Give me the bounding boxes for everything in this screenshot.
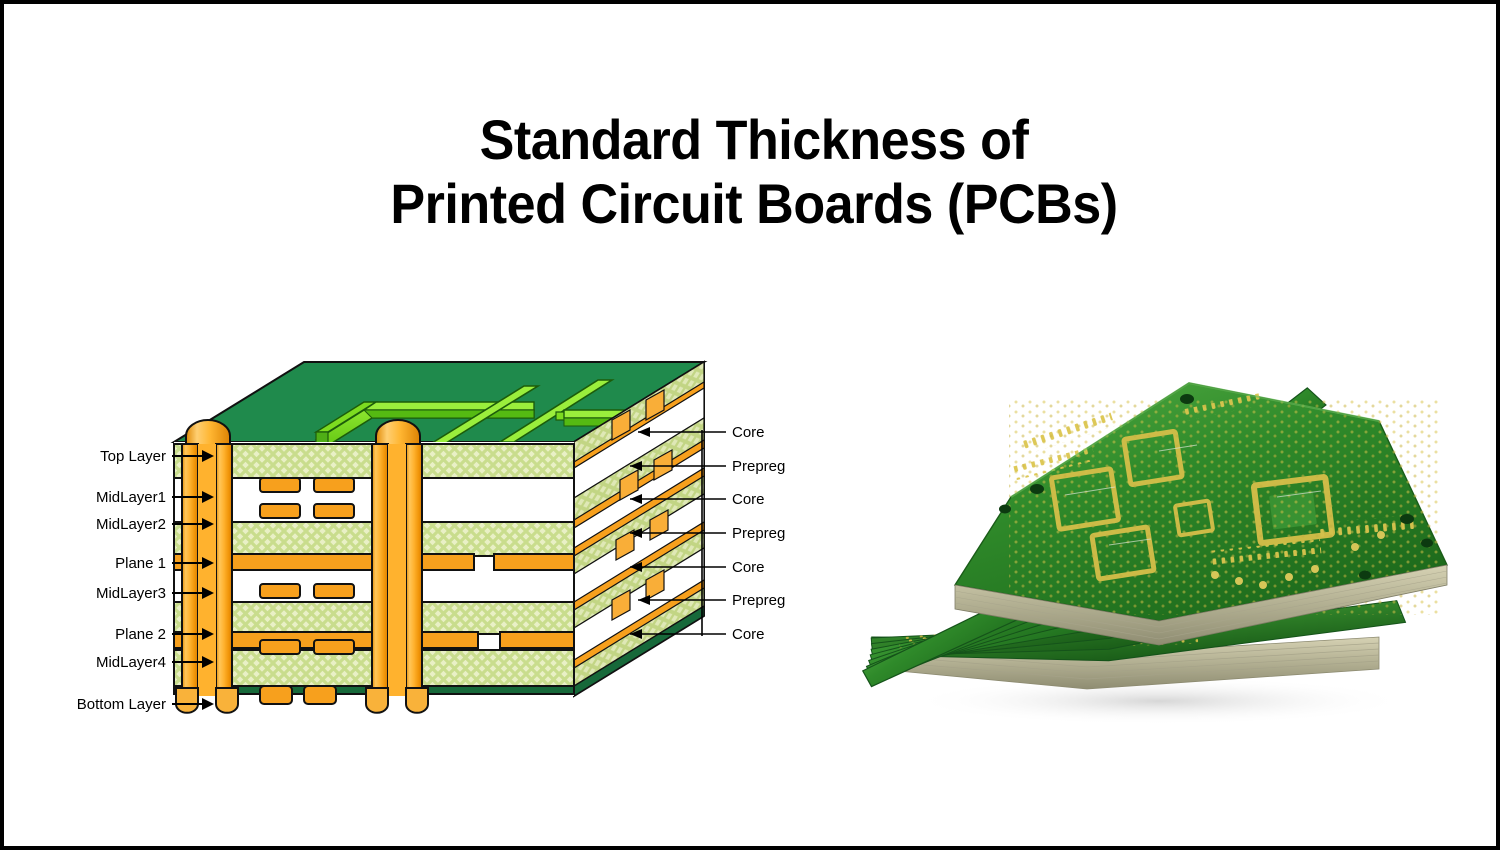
left-label-text: Bottom Layer: [77, 696, 166, 713]
left-label-text: Plane 1: [115, 555, 166, 572]
page-title-line-1: Standard Thickness of: [57, 108, 1452, 172]
page-title: Standard Thickness of Printed Circuit Bo…: [4, 108, 1500, 236]
left-label-text: Plane 2: [115, 626, 166, 643]
copper-plane-1b: [494, 554, 574, 570]
copper-plane-2c: [500, 632, 574, 648]
right-label-text: Prepreg: [732, 592, 785, 609]
pcb-stackup-diagram: Top Layer MidLayer1 MidLayer2 Plane 1: [64, 344, 804, 744]
right-label-text: Core: [732, 424, 765, 441]
left-label-text: MidLayer1: [96, 489, 166, 506]
via-group-right: [366, 420, 428, 713]
right-label-text: Core: [732, 626, 765, 643]
left-label-text: MidLayer3: [96, 585, 166, 602]
left-label-text: MidLayer4: [96, 654, 166, 671]
pcb-stack-group: [859, 383, 1447, 702]
left-label-text: MidLayer2: [96, 516, 166, 533]
right-label-text: Core: [732, 559, 765, 576]
right-label-text: Prepreg: [732, 525, 785, 542]
image-canvas: Standard Thickness of Printed Circuit Bo…: [0, 0, 1500, 850]
right-label-text: Prepreg: [732, 458, 785, 475]
stacked-pcb-photo: [859, 369, 1459, 729]
page-title-line-2: Printed Circuit Boards (PCBs): [57, 172, 1452, 236]
left-label-text: Top Layer: [100, 448, 166, 465]
right-label-text: Core: [732, 491, 765, 508]
